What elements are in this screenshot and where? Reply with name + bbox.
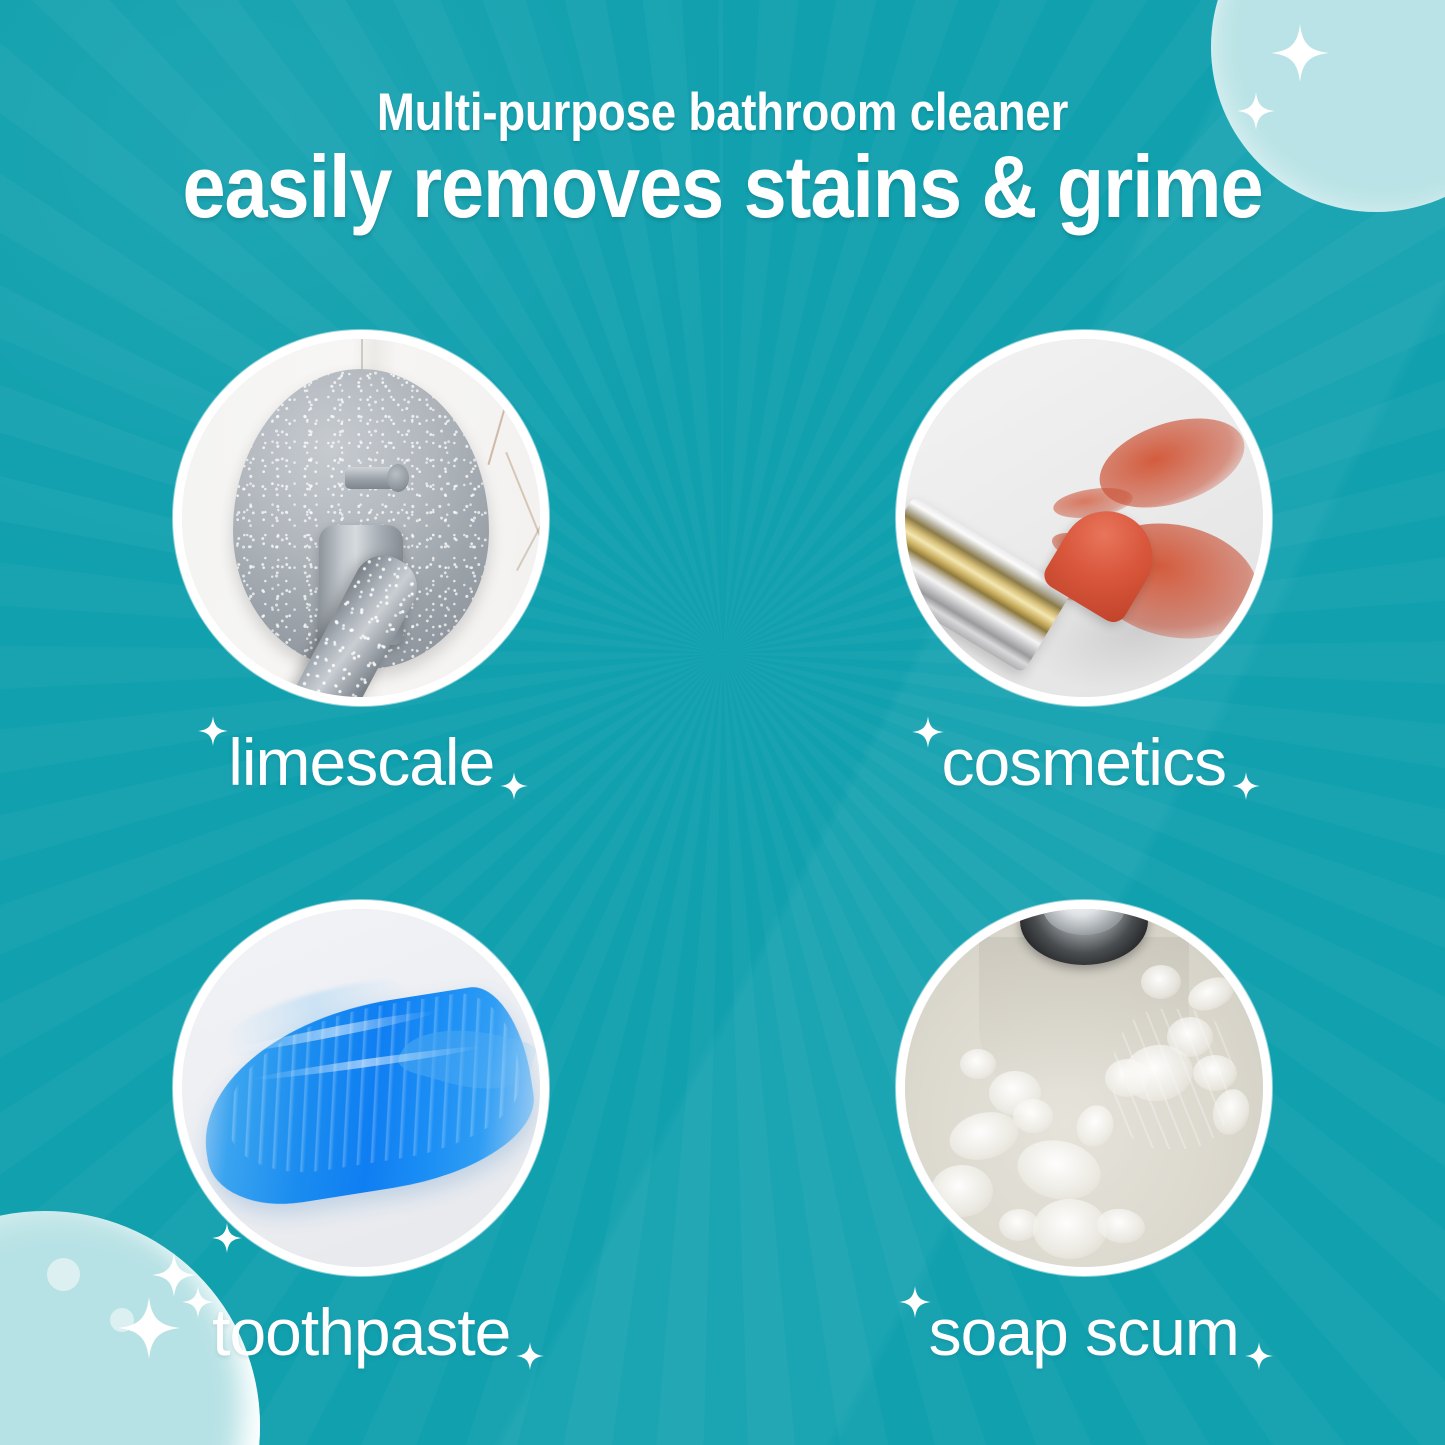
cosmetics-photo-image [905, 339, 1263, 697]
label-sparkle-left-icon [182, 1286, 214, 1323]
marble-vein [488, 349, 523, 465]
soap-scum-spot [1013, 1099, 1053, 1133]
toothpaste-smear [188, 980, 545, 1216]
headline-line-1: Multi-purpose bathroom cleaner [101, 86, 1344, 140]
marble-vein [516, 517, 546, 571]
stain-card-soap-scum: soap scum [723, 860, 1445, 1420]
toothpaste-photo-image [182, 909, 540, 1267]
toothpaste-label: toothpaste [212, 1298, 510, 1367]
product-infographic: Multi-purpose bathroom cleaner easily re… [0, 0, 1445, 1445]
limescale-label: limescale [228, 728, 494, 797]
label-sparkle-right-icon [500, 772, 528, 805]
stain-card-cosmetics: cosmetics [723, 300, 1445, 860]
cosmetics-photo [896, 330, 1272, 706]
label-sparkle-right-icon [1245, 1342, 1273, 1375]
label-sparkle-left-icon [899, 1286, 931, 1323]
soap-scum-spot [931, 1165, 993, 1217]
label-sparkle-left-icon [198, 716, 228, 751]
stain-card-grid: limescale [0, 300, 1445, 1420]
toothpaste-label-group: toothpaste [212, 1298, 510, 1367]
soap-scum-spot [1167, 1017, 1213, 1057]
soap-scum-spot [1141, 965, 1181, 999]
limescale-photo [173, 330, 549, 706]
toothpaste-photo [173, 900, 549, 1276]
label-sparkle-right-icon [1232, 772, 1260, 805]
marble-vein [505, 452, 541, 536]
valve-screw [345, 467, 405, 489]
cosmetics-label-group: cosmetics [942, 728, 1226, 797]
soap-scum-label: soap scum [929, 1298, 1239, 1367]
limescale-photo-image [182, 339, 540, 697]
stain-card-limescale: limescale [0, 300, 723, 860]
soap-scum-spot [1193, 1055, 1237, 1091]
soap-scum-photo-image [905, 909, 1263, 1267]
limescale-label-group: limescale [228, 728, 494, 797]
headline-line-2: easily removes stains & grime [87, 142, 1359, 232]
soap-scum-spot [960, 1049, 996, 1079]
label-sparkle-left-icon [912, 716, 944, 753]
soap-scum-label-group: soap scum [929, 1298, 1239, 1367]
headline: Multi-purpose bathroom cleaner easily re… [0, 86, 1445, 232]
soap-scum-spot [1033, 1199, 1107, 1259]
cosmetics-label: cosmetics [942, 728, 1226, 797]
label-sparkle-right-icon [516, 1342, 544, 1375]
soap-scum-photo [896, 900, 1272, 1276]
stain-card-toothpaste: toothpaste [0, 860, 723, 1420]
soap-scum-spot [999, 1209, 1039, 1241]
